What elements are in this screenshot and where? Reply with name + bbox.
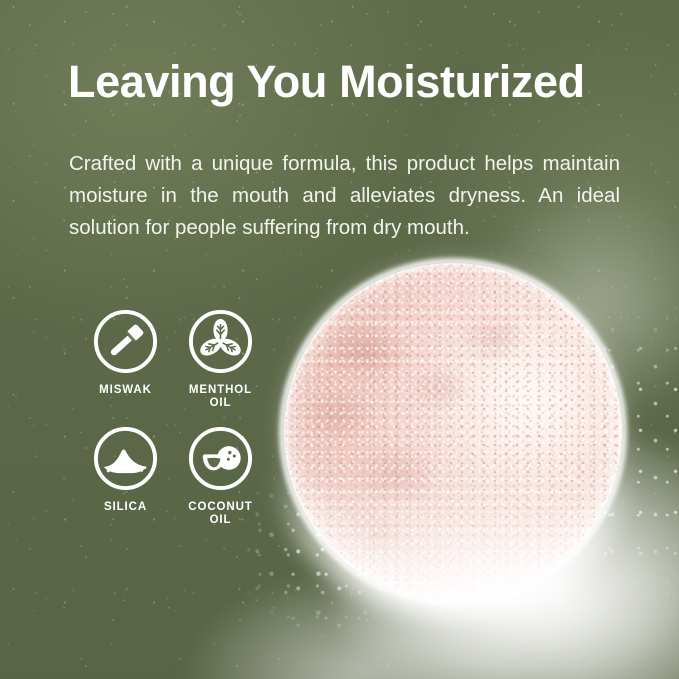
body-paragraph: Crafted with a unique formula, this prod…	[69, 148, 620, 244]
ingredient-coconut-oil: COCONUT OIL	[173, 425, 268, 527]
ingredient-row-1: MISWAK	[78, 308, 268, 410]
ingredient-badge-grid: MISWAK	[78, 308, 268, 527]
ingredient-label: MENTHOL OIL	[189, 384, 252, 410]
ingredient-row-2: SILICA COCONUT OIL	[78, 425, 268, 527]
miswak-stick-icon	[92, 308, 159, 375]
ingredient-miswak: MISWAK	[78, 308, 173, 410]
page-title: Leaving You Moisturized	[68, 58, 585, 105]
ingredient-silica: SILICA	[78, 425, 173, 527]
powder-mound-icon	[92, 425, 159, 492]
coconut-icon	[187, 425, 254, 492]
ingredient-label: MISWAK	[99, 384, 152, 397]
ingredient-label: SILICA	[104, 501, 147, 514]
product-infographic-canvas: Leaving You Moisturized Crafted with a u…	[0, 0, 679, 679]
ingredient-label: COCONUT OIL	[188, 501, 252, 527]
ingredient-menthol-oil: MENTHOL OIL	[173, 308, 268, 410]
mint-leaves-icon	[187, 308, 254, 375]
content-layer: Leaving You Moisturized Crafted with a u…	[0, 0, 679, 679]
